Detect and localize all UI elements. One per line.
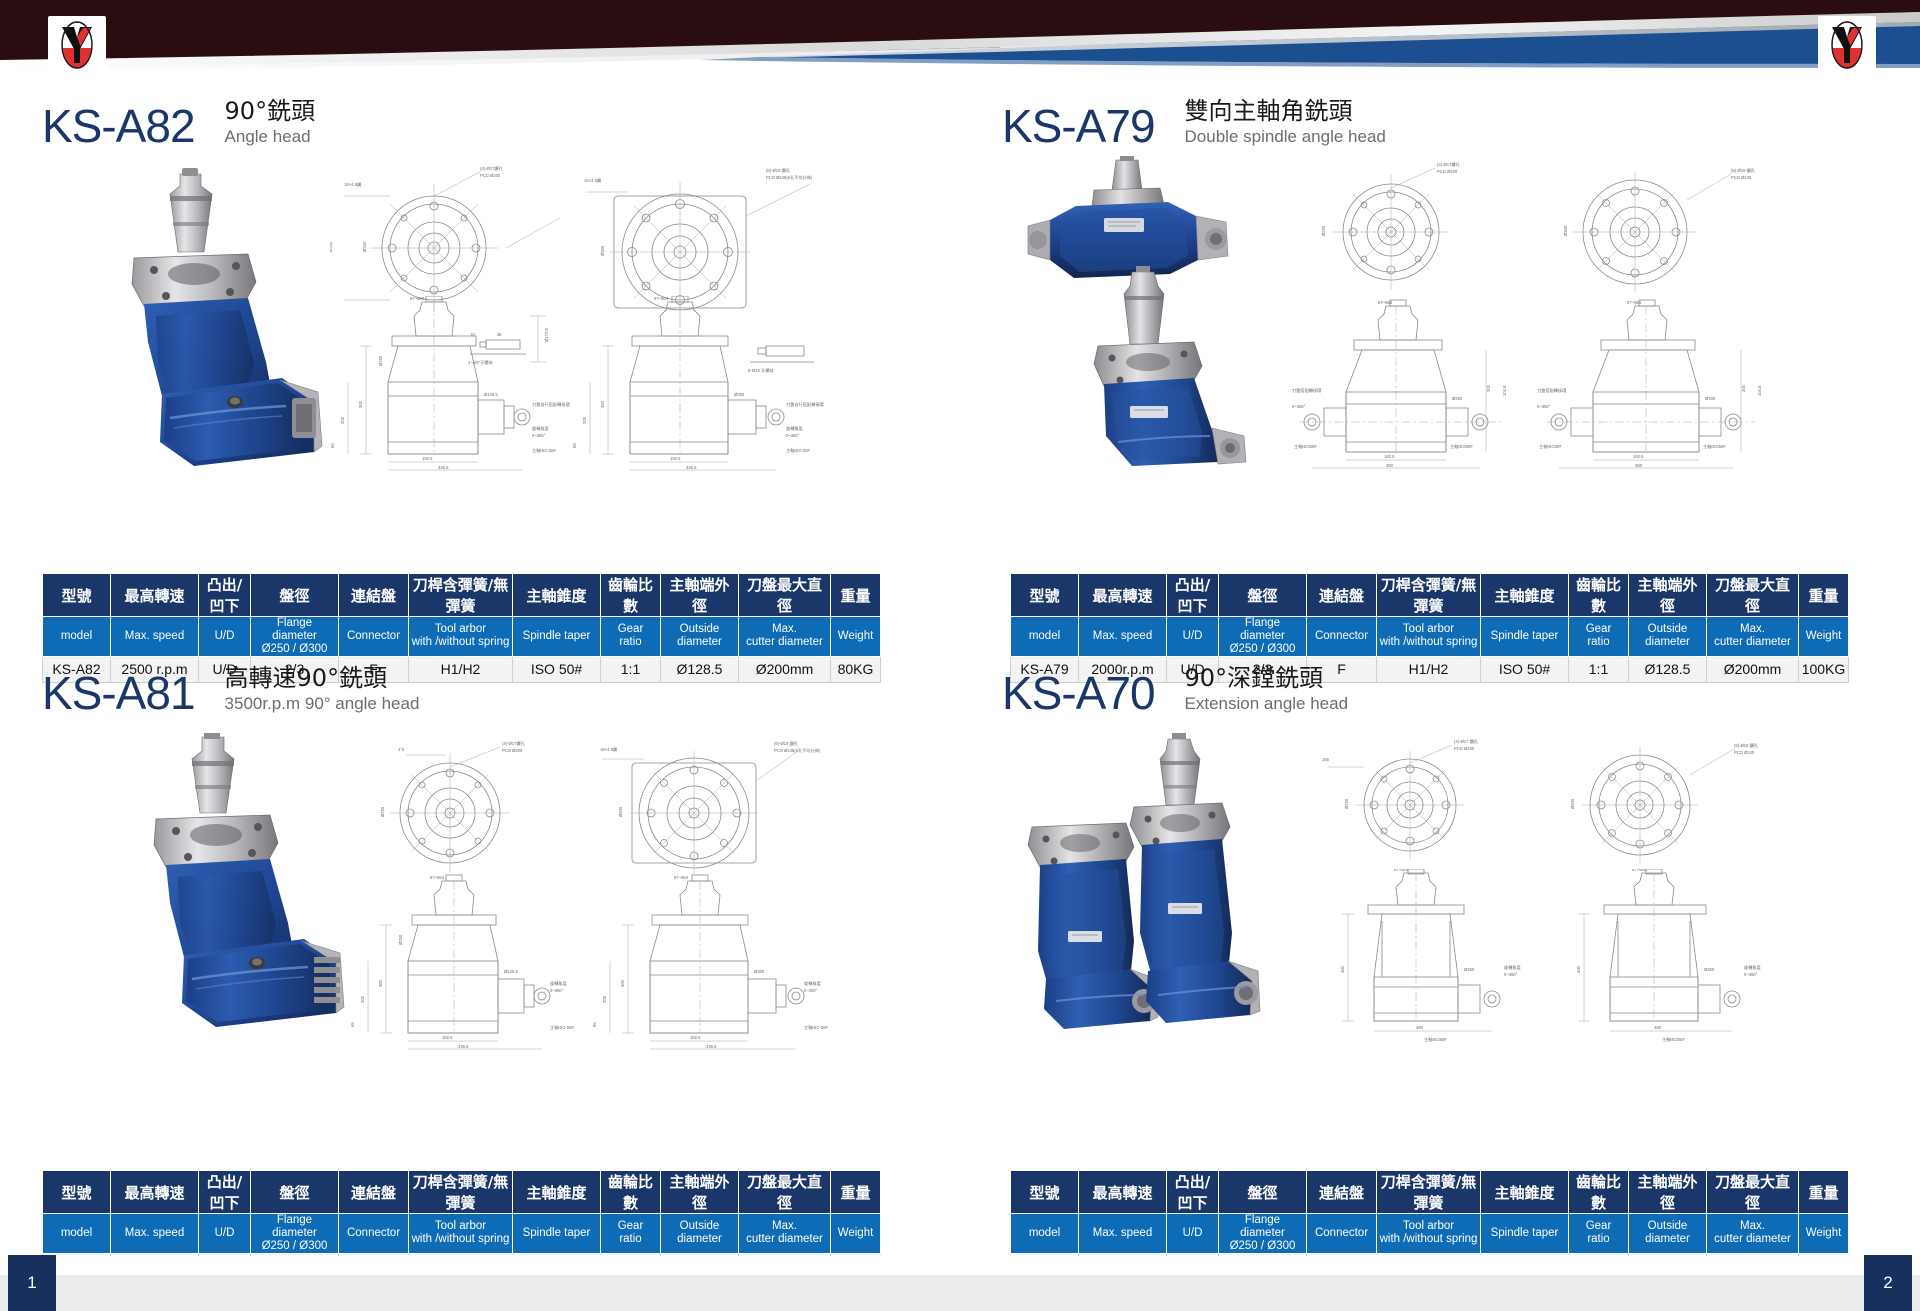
svg-text:300: 300 <box>1741 384 1746 392</box>
svg-text:182.5: 182.5 <box>1384 454 1395 459</box>
product-title-ks-a70: KS-A70 90°深鏜銑頭 Extension angle head <box>1002 665 1348 716</box>
th-cn-ud: 凸出/凹下 <box>199 1171 251 1214</box>
svg-text:(4)-Ø17鑽孔: (4)-Ø17鑽孔 <box>502 740 526 747</box>
th-en-model: model <box>1011 1214 1079 1254</box>
th-en-gear: Gearratio <box>601 1214 661 1254</box>
th-en-flange: Flange diameterØ250 / Ø300 <box>251 1214 339 1254</box>
svg-text:0~360°: 0~360° <box>1292 404 1306 409</box>
th-cn-cutter: 刀盤最大直徑 <box>1707 1171 1799 1214</box>
th-en-arbor: Tool arborwith /without spring <box>1377 1214 1481 1254</box>
svg-text:主軸ISO50#: 主軸ISO50# <box>1703 443 1726 450</box>
technical-drawing-section: 87~564 Ø250 400 460 旋轉角度 0~360° 主軸ISO50# <box>1306 869 1566 1049</box>
th-cn-connector: 連結盤 <box>1307 1171 1377 1214</box>
th-cn-speed: 最高轉速 <box>1079 1171 1167 1214</box>
svg-text:Ø250: Ø250 <box>1321 225 1326 236</box>
product-subtitle-en: Double spindle angle head <box>1185 127 1386 147</box>
th-en-taper: Spindle taper <box>1481 1214 1569 1254</box>
svg-text:360: 360 <box>1635 463 1643 468</box>
svg-text:Ø128.5: Ø128.5 <box>504 969 518 974</box>
technical-drawing-section: 87~564 Ø250 182.5 360 300 104.8 刀盤搭配轉接環 … <box>1290 296 1550 471</box>
svg-text:182.5: 182.5 <box>670 456 681 461</box>
svg-text:65: 65 <box>572 443 577 448</box>
th-cn-ud: 凸出/凹下 <box>1167 1171 1219 1214</box>
product-subtitle-cn: 90°銑頭 <box>225 98 316 126</box>
th-cn-arbor: 刀桿含彈簧/無彈簧 <box>409 1171 513 1214</box>
product-artwork-ks-a82: 16×4.5鑽 (4)-Ø17鑽孔 PCD Ø200 Ø250 Ø200 4~5… <box>30 156 930 466</box>
th-cn-flange: 盤徑 <box>1219 1171 1307 1214</box>
svg-text:205: 205 <box>360 995 365 1003</box>
th-cn-outside: 主軸端外徑 <box>661 574 739 617</box>
logo-right <box>1818 16 1876 74</box>
svg-text:16×4.5鑽: 16×4.5鑽 <box>344 181 362 188</box>
th-cn-taper: 主軸錐度 <box>1481 574 1569 617</box>
th-cn-model: 型號 <box>1011 1171 1079 1214</box>
th-en-model: model <box>43 1214 111 1254</box>
product-title-ks-a81: KS-A81 高轉速90°銑頭 3500r.p.m 90° angle head <box>42 665 419 716</box>
svg-text:旋轉角度: 旋轉角度 <box>532 425 550 432</box>
technical-drawing-front: (4)-Ø17 鑽孔 PCD Ø200 165 Ø250 <box>1310 733 1540 883</box>
technical-drawing-section: 300 205 65 182.5 345.5 87~564 Ø128.5 旋轉角… <box>346 873 626 1053</box>
product-subtitle-en: 3500r.p.m 90° angle head <box>225 694 420 714</box>
svg-text:Ø300: Ø300 <box>618 806 623 817</box>
th-cn-taper: 主軸錐度 <box>513 1171 601 1214</box>
svg-text:16×4.5鑽: 16×4.5鑽 <box>600 746 618 753</box>
technical-drawing-front: 4°5 (4)-Ø17鑽孔 PCD Ø200 Ø250 <box>350 733 600 893</box>
product-subtitle-en: Extension angle head <box>1185 694 1349 714</box>
th-cn-gear: 齒輪比數 <box>601 1171 661 1214</box>
svg-text:旋轉角度: 旋轉角度 <box>786 425 804 432</box>
th-en-speed: Max. speed <box>111 1214 199 1254</box>
product-block-ks-a70: KS-A70 90°深鏜銑頭 Extension angle head <box>960 645 1920 1255</box>
table-header-row-cn: 型號 最高轉速 凸出/凹下 盤徑 連結盤 刀桿含彈簧/無彈簧 主軸錐度 齒輪比數… <box>43 574 881 617</box>
th-en-outside: Outsidediameter <box>661 1214 739 1254</box>
th-cn-weight: 重量 <box>831 574 881 617</box>
technical-drawing-section-alt: 87~564 Ø300 182.5 360 300 104.8 刀盤搭配轉接環 … <box>1535 296 1805 471</box>
th-en-ud: U/D <box>199 1214 251 1254</box>
th-en-flange: Flange diameterØ250 / Ø300 <box>1219 1214 1307 1254</box>
svg-text:(4)-Ø17鑽孔: (4)-Ø17鑽孔 <box>1437 161 1461 168</box>
svg-text:205: 205 <box>602 995 607 1003</box>
svg-text:主軸ISO 50#: 主軸ISO 50# <box>550 1024 574 1031</box>
technical-drawing-section-alt: 300 205 65 182.5 345.5 87~564 Ø300 旋轉角度 … <box>586 873 876 1053</box>
product-photo <box>70 166 330 466</box>
th-cn-outside: 主軸端外徑 <box>1629 574 1707 617</box>
svg-text:345.5: 345.5 <box>706 1044 717 1049</box>
svg-text:0~360°: 0~360° <box>786 433 800 438</box>
page-number-right: 2 <box>1864 1255 1912 1311</box>
th-cn-cutter: 刀盤最大直徑 <box>739 1171 831 1214</box>
catalog-page: KS-A82 90°銑頭 Angle head <box>0 0 1920 1311</box>
svg-text:104.8: 104.8 <box>1757 385 1762 396</box>
svg-text:(6)-Ø19 鑽孔: (6)-Ø19 鑽孔 <box>774 740 799 747</box>
product-subtitle-cn: 高轉速90°銑頭 <box>225 665 420 693</box>
svg-text:主軸ISO 50#: 主軸ISO 50# <box>786 447 810 454</box>
svg-text:Ø128.5: Ø128.5 <box>484 392 498 397</box>
th-en-taper: Spindle taper <box>513 1214 601 1254</box>
svg-text:300: 300 <box>1486 384 1491 392</box>
svg-text:0~360°: 0~360° <box>1504 972 1518 977</box>
th-cn-arbor: 刀桿含彈簧/無彈簧 <box>1377 574 1481 617</box>
th-en-gear: Gearratio <box>1569 1214 1629 1254</box>
product-artwork-ks-a81: 4°5 (4)-Ø17鑽孔 PCD Ø200 Ø250 <box>30 733 930 1043</box>
product-photo <box>90 733 350 1033</box>
svg-text:刀盤搭配轉接環: 刀盤搭配轉接環 <box>1537 387 1567 394</box>
th-cn-taper: 主軸錐度 <box>513 574 601 617</box>
th-cn-weight: 重量 <box>831 1171 881 1214</box>
svg-text:(6)-Ø19 鑽孔: (6)-Ø19 鑽孔 <box>1731 167 1756 174</box>
svg-text:87~564: 87~564 <box>1627 300 1642 305</box>
th-cn-arbor: 刀桿含彈簧/無彈簧 <box>409 574 513 617</box>
svg-text:165: 165 <box>1322 757 1330 762</box>
product-title-ks-a79: KS-A79 雙向主軸角銑頭 Double spindle angle head <box>1002 98 1386 149</box>
svg-text:PCD Ø240: PCD Ø240 <box>1734 750 1755 755</box>
technical-drawing-section-alt: 87~564 Ø300 400 460 旋轉角度 0~360° 主軸ISO50# <box>1538 869 1808 1049</box>
th-en-connector: Connector <box>339 1214 409 1254</box>
svg-text:Ø300: Ø300 <box>1704 967 1715 972</box>
svg-text:0~360°: 0~360° <box>1744 972 1758 977</box>
svg-text:345.5: 345.5 <box>458 1044 469 1049</box>
th-cn-gear: 齒輪比數 <box>1569 1171 1629 1214</box>
technical-drawing-front: (4)-Ø17鑽孔 PCD Ø200 Ø250 <box>1295 158 1525 308</box>
th-cn-model: 型號 <box>43 574 111 617</box>
svg-text:Ø300: Ø300 <box>754 969 765 974</box>
svg-text:Ø300: Ø300 <box>1563 225 1568 236</box>
svg-text:(6)-Ø19 鑽孔: (6)-Ø19 鑽孔 <box>766 167 791 174</box>
svg-text:Ø250: Ø250 <box>1464 967 1475 972</box>
svg-text:主軸ISO50#: 主軸ISO50# <box>1450 443 1473 450</box>
svg-text:300: 300 <box>620 979 625 987</box>
product-subtitle-en: Angle head <box>225 127 316 147</box>
table-header-row-en: model Max. speed U/D Flange diameterØ250… <box>1011 1214 1849 1254</box>
svg-text:345.5: 345.5 <box>438 465 449 470</box>
svg-text:主軸ISO50#: 主軸ISO50# <box>1294 443 1317 450</box>
technical-drawing-front-alt: (6)-Ø19 鑽孔 PCD Ø245 Ø300 <box>1535 158 1775 308</box>
svg-text:460: 460 <box>1654 1025 1662 1030</box>
svg-text:182.5: 182.5 <box>1633 454 1644 459</box>
th-cn-weight: 重量 <box>1799 574 1849 617</box>
th-en-arbor: Tool arborwith /without spring <box>409 1214 513 1254</box>
svg-text:Ø300: Ø300 <box>600 245 605 256</box>
svg-text:104.8: 104.8 <box>1502 385 1507 396</box>
svg-text:300: 300 <box>358 400 363 408</box>
page-footer: 1 2 <box>0 1255 1920 1311</box>
page-title: KS-A79 <box>1002 103 1155 149</box>
svg-text:刀盤搭配轉接環: 刀盤搭配轉接環 <box>1292 387 1322 394</box>
th-cn-outside: 主軸端外徑 <box>661 1171 739 1214</box>
svg-text:87~564: 87~564 <box>430 875 445 880</box>
technical-drawing-front-alt: 16×4.5鑽 (6)-Ø19 鑽孔 PCD Ø245(6孔平均分佈) Ø300 <box>588 733 858 893</box>
th-cn-gear: 齒輪比數 <box>601 574 661 617</box>
svg-text:Ø250: Ø250 <box>330 241 333 252</box>
svg-text:87~564: 87~564 <box>654 296 669 301</box>
svg-text:Ø300: Ø300 <box>1705 396 1716 401</box>
svg-text:Ø250: Ø250 <box>1452 396 1463 401</box>
footer-white-band <box>0 1255 1920 1275</box>
th-en-weight: Weight <box>831 1214 881 1254</box>
footer-gray-strip <box>0 1275 1920 1311</box>
th-cn-cutter: 刀盤最大直徑 <box>1707 574 1799 617</box>
svg-text:Ø200: Ø200 <box>362 241 367 252</box>
svg-text:主軸ISO 50#: 主軸ISO 50# <box>532 447 556 454</box>
technical-drawing-section-alt: 300 205 65 182.5 345.5 87~564 Ø300 刀盤自行搭… <box>566 296 866 471</box>
svg-text:360: 360 <box>1386 463 1394 468</box>
product-subtitle-cn: 雙向主軸角銑頭 <box>1185 98 1386 126</box>
svg-text:65: 65 <box>330 443 335 448</box>
svg-text:PCD Ø245(6孔平均分佈): PCD Ø245(6孔平均分佈) <box>766 174 813 181</box>
th-cn-speed: 最高轉速 <box>111 574 199 617</box>
svg-text:旋轉角度: 旋轉角度 <box>804 980 822 987</box>
th-cn-speed: 最高轉速 <box>111 1171 199 1214</box>
svg-text:87~564: 87~564 <box>1632 869 1647 872</box>
product-photo-lower <box>1060 266 1280 466</box>
th-cn-gear: 齒輪比數 <box>1569 574 1629 617</box>
svg-text:0~360°: 0~360° <box>1537 404 1551 409</box>
page-title: KS-A70 <box>1002 670 1155 716</box>
product-photo-tall <box>1110 733 1270 1033</box>
th-cn-flange: 盤徑 <box>251 574 339 617</box>
svg-text:300: 300 <box>378 979 383 987</box>
svg-text:主軸ISO 50#: 主軸ISO 50# <box>804 1024 828 1031</box>
th-cn-connector: 連結盤 <box>1307 574 1377 617</box>
svg-text:345.5: 345.5 <box>686 465 697 470</box>
svg-text:主軸ISO50#: 主軸ISO50# <box>1662 1036 1685 1043</box>
svg-text:205: 205 <box>340 416 345 424</box>
th-cn-speed: 最高轉速 <box>1079 574 1167 617</box>
th-en-ud: U/D <box>1167 1214 1219 1254</box>
svg-text:16×4.5鑽: 16×4.5鑽 <box>584 177 602 184</box>
svg-text:87~564: 87~564 <box>674 875 689 880</box>
th-en-outside: Outsidediameter <box>1629 1214 1707 1254</box>
th-cn-outside: 主軸端外徑 <box>1629 1171 1707 1214</box>
th-cn-arbor: 刀桿含彈簧/無彈簧 <box>1377 1171 1481 1214</box>
technical-drawing-section: 300 205 65 182.5 345.5 87~564 Ø128.5 刀盤自… <box>326 296 606 471</box>
svg-text:0~360°: 0~360° <box>532 433 546 438</box>
page-number-left: 1 <box>8 1255 56 1311</box>
svg-text:Ø250: Ø250 <box>378 355 383 366</box>
svg-text:460: 460 <box>1416 1025 1424 1030</box>
table-header-row-en: model Max. speed U/D Flange diameterØ250… <box>43 1214 881 1254</box>
svg-text:182.5: 182.5 <box>442 1035 453 1040</box>
svg-text:刀盤自行搭配轉接環: 刀盤自行搭配轉接環 <box>532 401 571 408</box>
th-cn-ud: 凸出/凹下 <box>1167 574 1219 617</box>
svg-text:400: 400 <box>1576 965 1581 973</box>
company-logo-icon <box>1822 19 1872 71</box>
product-subtitle-cn: 90°深鏜銑頭 <box>1185 665 1349 693</box>
svg-text:PCD Ø200: PCD Ø200 <box>1454 746 1475 751</box>
company-logo-icon <box>52 19 102 71</box>
product-block-ks-a79: KS-A79 雙向主軸角銑頭 Double spindle angle head <box>960 78 1920 658</box>
svg-text:Ø250: Ø250 <box>380 806 385 817</box>
th-en-connector: Connector <box>1307 1214 1377 1254</box>
header-banner-graphic <box>0 0 1920 78</box>
svg-text:PCD Ø200: PCD Ø200 <box>502 748 523 753</box>
svg-text:400: 400 <box>1340 965 1345 973</box>
svg-text:65: 65 <box>592 1022 597 1027</box>
th-en-weight: Weight <box>1799 1214 1849 1254</box>
svg-text:主軸ISO50#: 主軸ISO50# <box>1424 1036 1447 1043</box>
product-title-ks-a82: KS-A82 90°銑頭 Angle head <box>42 98 315 149</box>
svg-text:(4)-Ø17鑽孔: (4)-Ø17鑽孔 <box>480 165 504 172</box>
th-cn-weight: 重量 <box>1799 1171 1849 1214</box>
svg-text:0~360°: 0~360° <box>804 988 818 993</box>
svg-text:PCD Ø200: PCD Ø200 <box>480 173 501 178</box>
th-cn-connector: 連結盤 <box>339 574 409 617</box>
th-cn-cutter: 刀盤最大直徑 <box>739 574 831 617</box>
th-cn-model: 型號 <box>1011 574 1079 617</box>
product-block-ks-a81: KS-A81 高轉速90°銑頭 3500r.p.m 90° angle head <box>0 645 960 1255</box>
page-title: KS-A82 <box>42 103 195 149</box>
table-header-row-cn: 型號 最高轉速 凸出/凹下 盤徑 連結盤 刀桿含彈簧/無彈簧 主軸錐度 齒輪比數… <box>1011 1171 1849 1214</box>
svg-text:182.5: 182.5 <box>690 1035 701 1040</box>
th-en-cutter: Max.cutter diameter <box>739 1214 831 1254</box>
table-header-row-cn: 型號 最高轉速 凸出/凹下 盤徑 連結盤 刀桿含彈簧/無彈簧 主軸錐度 齒輪比數… <box>1011 574 1849 617</box>
th-en-speed: Max. speed <box>1079 1214 1167 1254</box>
product-block-ks-a82: KS-A82 90°銑頭 Angle head <box>0 78 960 658</box>
svg-text:Ø250: Ø250 <box>398 934 403 945</box>
th-cn-flange: 盤徑 <box>1219 574 1307 617</box>
svg-text:65: 65 <box>350 1022 355 1027</box>
th-cn-taper: 主軸錐度 <box>1481 1171 1569 1214</box>
svg-text:4°5: 4°5 <box>398 747 405 752</box>
svg-text:旋轉角度: 旋轉角度 <box>1504 964 1522 971</box>
svg-text:0~360°: 0~360° <box>550 988 564 993</box>
page-header <box>0 0 1920 78</box>
th-cn-ud: 凸出/凹下 <box>199 574 251 617</box>
logo-left <box>48 16 106 74</box>
svg-text:旋轉角度: 旋轉角度 <box>1744 964 1762 971</box>
th-cn-model: 型號 <box>43 1171 111 1214</box>
svg-text:PCD Ø245(6孔平均分佈): PCD Ø245(6孔平均分佈) <box>774 747 821 754</box>
svg-text:PCD Ø245: PCD Ø245 <box>1731 175 1752 180</box>
table-header-row-cn: 型號 最高轉速 凸出/凹下 盤徑 連結盤 刀桿含彈簧/無彈簧 主軸錐度 齒輪比數… <box>43 1171 881 1214</box>
svg-text:87~564: 87~564 <box>410 296 425 301</box>
svg-text:(6)-Ø19 鑽孔: (6)-Ø19 鑽孔 <box>1734 742 1759 749</box>
svg-text:旋轉角度: 旋轉角度 <box>550 980 568 987</box>
svg-text:刀盤自行搭配轉接環: 刀盤自行搭配轉接環 <box>786 401 825 408</box>
product-artwork-ks-a70: (4)-Ø17 鑽孔 PCD Ø200 165 Ø250 <box>990 733 1890 1043</box>
svg-text:205: 205 <box>582 416 587 424</box>
svg-text:300: 300 <box>600 400 605 408</box>
th-cn-flange: 盤徑 <box>251 1171 339 1214</box>
th-en-cutter: Max.cutter diameter <box>1707 1214 1799 1254</box>
svg-text:PCD Ø200: PCD Ø200 <box>1437 169 1458 174</box>
th-cn-connector: 連結盤 <box>339 1171 409 1214</box>
svg-text:Ø300: Ø300 <box>1570 798 1575 809</box>
svg-text:主軸ISO50#: 主軸ISO50# <box>1539 443 1562 450</box>
page-title: KS-A81 <box>42 670 195 716</box>
svg-text:182.5: 182.5 <box>422 456 433 461</box>
technical-drawing-front-alt: (6)-Ø19 鑽孔 PCD Ø240 Ø300 <box>1540 733 1780 883</box>
product-artwork-ks-a79: (4)-Ø17鑽孔 PCD Ø200 Ø250 <box>990 156 1890 466</box>
svg-text:87~564: 87~564 <box>1378 300 1393 305</box>
svg-text:(4)-Ø17 鑽孔: (4)-Ø17 鑽孔 <box>1454 738 1479 745</box>
svg-text:Ø300: Ø300 <box>734 392 745 397</box>
svg-text:Ø250: Ø250 <box>1344 798 1349 809</box>
svg-text:87~564: 87~564 <box>1394 869 1409 872</box>
